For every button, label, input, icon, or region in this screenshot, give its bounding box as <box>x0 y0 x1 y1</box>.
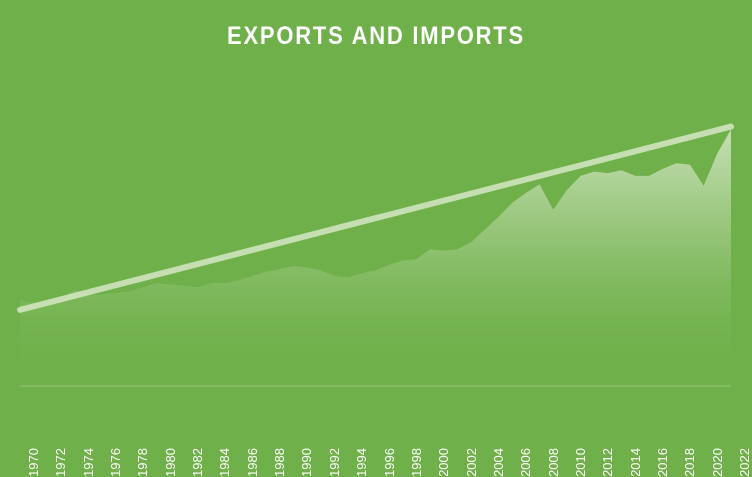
x-axis-tick-label: 1984 <box>217 448 232 477</box>
x-axis-tick-label: 2012 <box>600 448 615 477</box>
x-axis-tick-label: 1976 <box>108 448 123 477</box>
x-axis-tick-label: 1980 <box>163 448 178 477</box>
plot-area <box>0 0 752 400</box>
x-axis-tick-label: 2010 <box>573 448 588 477</box>
x-axis-tick-label: 2006 <box>518 448 533 477</box>
x-axis-tick-label: 1998 <box>409 448 424 477</box>
x-axis-tick-label: 2004 <box>491 448 506 477</box>
x-axis-tick-label: 1982 <box>190 448 205 477</box>
x-axis-tick-label: 1994 <box>354 448 369 477</box>
x-axis-tick-label: 2000 <box>436 448 451 477</box>
x-axis-tick-label: 2020 <box>710 448 725 477</box>
x-axis-tick-label: 1996 <box>382 448 397 477</box>
x-axis-tick-label: 1990 <box>299 448 314 477</box>
x-axis-tick-label: 2016 <box>655 448 670 477</box>
chart-page: EXPORTS AND IMPORTS <box>0 0 752 452</box>
x-axis-tick-label: 2014 <box>628 448 643 477</box>
x-axis-tick-label: 1972 <box>53 448 68 477</box>
x-axis-tick-label: 2018 <box>682 448 697 477</box>
x-axis-tick-label: 2022 <box>737 448 752 477</box>
x-axis-tick-label: 1970 <box>26 448 41 477</box>
x-axis-tick-label: 1992 <box>327 448 342 477</box>
x-axis: 1970197219741976197819801982198419861988… <box>0 392 752 452</box>
area-chart-svg <box>0 0 752 400</box>
x-axis-tick-label: 2002 <box>464 448 479 477</box>
x-axis-tick-label: 1988 <box>272 448 287 477</box>
x-axis-tick-label: 1974 <box>81 448 96 477</box>
x-axis-tick-label: 2008 <box>546 448 561 477</box>
x-axis-tick-label: 1986 <box>245 448 260 477</box>
x-axis-tick-label: 1978 <box>135 448 150 477</box>
